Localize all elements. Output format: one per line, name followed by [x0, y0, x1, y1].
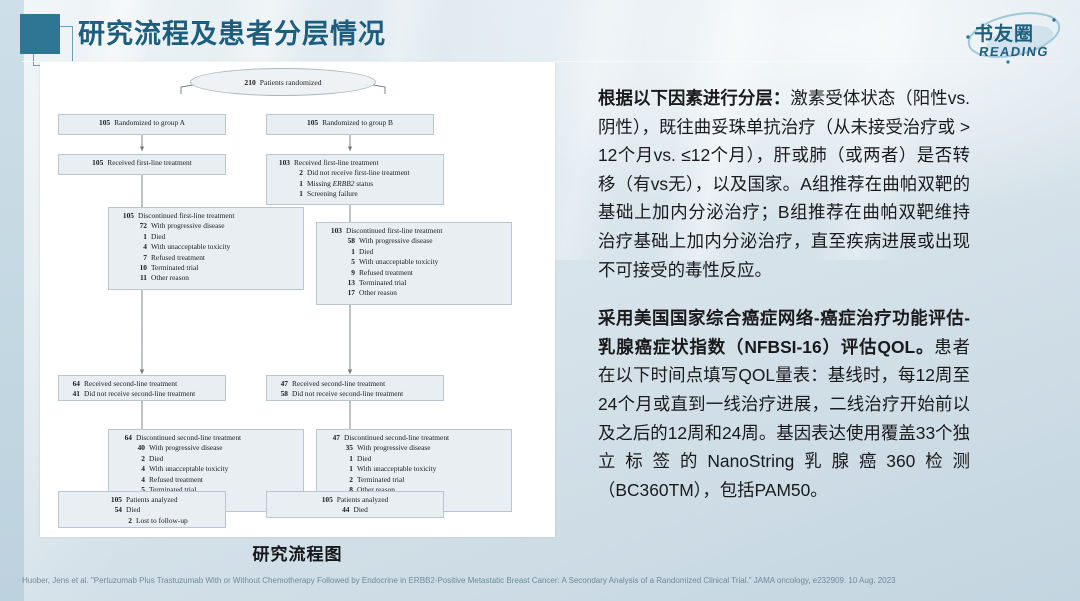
flow-num: 4 — [114, 475, 145, 485]
flow-num: 105 — [102, 495, 122, 505]
flow-num: 5 — [322, 257, 355, 267]
page-title: 研究流程及患者分层情况 — [78, 12, 386, 51]
flow-text: Other reason — [151, 273, 189, 283]
flow-num: 64 — [114, 433, 132, 443]
flow-num: 13 — [322, 278, 355, 288]
flow-text: Discontinued first-line treatment — [138, 211, 234, 221]
paragraph-spacer — [598, 284, 970, 304]
flow-text: With unacceptable toxicity — [359, 257, 438, 267]
flow-text: With progressive disease — [359, 236, 433, 246]
slide-header: 研究流程及患者分层情况 — [0, 0, 1080, 62]
flow-node-group-a-first-line: 105 Received first-line treatment — [58, 154, 226, 175]
flow-num: 1 — [322, 454, 353, 464]
flow-text: Did not receive first-line treatment — [307, 168, 410, 178]
flow-num: 103 — [272, 158, 290, 168]
flow-num: 1 — [272, 189, 303, 199]
flow-num: 103 — [322, 226, 342, 236]
flowchart: 210 Patients randomized 105 Randomized t… — [40, 62, 555, 537]
flow-node-group-b-disc-first: 103Discontinued first-line treatment 58W… — [316, 222, 512, 305]
flow-node-group-b-randomized: 105 Randomized to group B — [266, 114, 434, 135]
flow-text: With unacceptable toxicity — [151, 242, 230, 252]
flow-text: Died — [149, 454, 163, 464]
flow-text: Did not receive second-line treatment — [84, 389, 195, 399]
flow-num: 2 — [102, 516, 132, 526]
slide-root: 研究流程及患者分层情况 书友圈 READING — [0, 0, 1080, 601]
flow-text: Terminated trial — [359, 278, 406, 288]
flow-text: Terminated trial — [357, 475, 404, 485]
flow-num: 58 — [272, 389, 288, 399]
paragraph-1-lead: 根据以下因素进行分层： — [598, 88, 790, 108]
brand-logo: 书友圈 READING — [946, 4, 1074, 66]
flow-text: Missing ERBB2 status — [307, 179, 373, 189]
flow-text: Discontinued second-line treatment — [344, 433, 449, 443]
flow-text: Received first-line treatment — [107, 158, 192, 168]
flow-text: Patients randomized — [260, 78, 322, 87]
flow-num: 2 — [322, 475, 353, 485]
flow-num: 40 — [114, 443, 145, 453]
svg-text:书友圈: 书友圈 — [974, 22, 1034, 45]
flow-text: Did not receive second-line treatment — [292, 389, 403, 399]
flow-num: 64 — [64, 379, 80, 389]
flow-num: 72 — [114, 221, 147, 231]
flow-num: 17 — [322, 288, 355, 298]
flowchart-panel: 210 Patients randomized 105 Randomized t… — [40, 62, 555, 537]
flow-text: Screening failure — [307, 189, 358, 199]
flow-text: With unacceptable toxicity — [149, 464, 228, 474]
flow-node-group-b-first-line: 103Received first-line treatment 2Did no… — [266, 154, 444, 205]
flow-num: 1 — [114, 232, 147, 242]
flow-num: 47 — [322, 433, 340, 443]
flow-num: 2 — [114, 454, 145, 464]
flow-num: 47 — [272, 379, 288, 389]
flow-text: Received second-line treatment — [84, 379, 177, 389]
flow-text: With progressive disease — [151, 221, 225, 231]
background-left-band — [0, 0, 24, 601]
flow-text: Died — [151, 232, 165, 242]
flow-num: 11 — [114, 273, 147, 283]
flow-text: Died — [357, 454, 371, 464]
flow-node-randomized-root: 210 Patients randomized — [190, 68, 376, 96]
flow-num: 44 — [342, 505, 349, 515]
flow-num: 58 — [322, 236, 355, 246]
flow-num: 7 — [114, 253, 147, 263]
paragraph-1-body: 激素受体状态（阳性vs. 阴性），既往曲妥珠单抗治疗（从未接受治疗或 > 12个… — [598, 88, 970, 280]
description-paragraph-1: 根据以下因素进行分层：激素受体状态（阳性vs. 阴性），既往曲妥珠单抗治疗（从未… — [598, 84, 970, 284]
flow-node-group-a-disc-first: 105Discontinued first-line treatment 72W… — [108, 207, 304, 290]
flow-num: 1 — [322, 247, 355, 257]
flow-num: 1 — [322, 464, 353, 474]
flow-text: Randomized to group A — [114, 118, 185, 128]
flow-num: 41 — [64, 389, 80, 399]
paragraph-2-body: 患者在以下时间点填写QOL量表：基线时，每12周至24个月或直到一线治疗进展，二… — [598, 337, 970, 500]
flow-text: Received second-line treatment — [292, 379, 385, 389]
flow-num: 105 — [114, 211, 134, 221]
flow-text: With progressive disease — [149, 443, 223, 453]
figure-caption: 研究流程图 — [40, 540, 555, 565]
flow-text: Randomized to group B — [322, 118, 393, 128]
svg-text:READING: READING — [978, 44, 1050, 59]
flow-num: 9 — [322, 268, 355, 278]
flow-text: With progressive disease — [357, 443, 431, 453]
flow-text: Terminated trial — [151, 263, 198, 273]
flow-text: Patients analyzed — [337, 495, 389, 505]
flow-text: Refused treatment — [151, 253, 205, 263]
flow-num: 105 — [307, 118, 318, 128]
flow-num: 105 — [322, 495, 333, 505]
flow-num: 1 — [272, 179, 303, 189]
flow-text: With unacceptable toxicity — [357, 464, 436, 474]
flow-node-group-b-analyzed: 105Patients analyzed 44Died — [266, 491, 444, 518]
source-citation: Huober, Jens et al. "Pertuzumab Plus Tra… — [22, 576, 1062, 585]
description-paragraph-2: 采用美国国家综合癌症网络-癌症治疗功能评估-乳腺癌症状指数（NFBSI-16）评… — [598, 304, 970, 504]
flow-num: 4 — [114, 464, 145, 474]
flow-text: Refused treatment — [149, 475, 203, 485]
flow-num: 54 — [102, 505, 122, 515]
flow-node-group-a-analyzed: 105Patients analyzed 54Died 2Lost to fol… — [58, 491, 226, 528]
flow-num: 10 — [114, 263, 147, 273]
flow-text: Other reason — [359, 288, 397, 298]
flow-text: Died — [359, 247, 373, 257]
flow-node-group-b-second-line: 47Received second-line treatment 58Did n… — [266, 375, 444, 401]
flow-text: Received first-line treatment — [294, 158, 379, 168]
flow-num: 105 — [99, 118, 110, 128]
flow-text: Died — [354, 505, 368, 515]
flow-num: 210 — [244, 78, 255, 87]
flow-text: Discontinued first-line treatment — [346, 226, 442, 236]
flow-num: 105 — [92, 158, 103, 168]
flow-text: Discontinued second-line treatment — [136, 433, 241, 443]
flow-num: 35 — [322, 443, 353, 453]
paragraph-2-lead: 采用美国国家综合癌症网络-癌症治疗功能评估-乳腺癌症状指数（NFBSI-16）评… — [598, 308, 970, 357]
flow-num: 4 — [114, 242, 147, 252]
flow-text: Patients analyzed — [126, 495, 178, 505]
header-square-icon — [20, 14, 60, 54]
flow-num: 2 — [272, 168, 303, 178]
flow-node-group-a-second-line: 64Received second-line treatment 41Did n… — [58, 375, 226, 401]
flow-text: Died — [126, 505, 140, 515]
flow-node-group-a-randomized: 105 Randomized to group A — [58, 114, 226, 135]
flow-text: Refused treatment — [359, 268, 413, 278]
flow-text: Lost to follow-up — [136, 516, 188, 526]
description-panel: 根据以下因素进行分层：激素受体状态（阳性vs. 阴性），既往曲妥珠单抗治疗（从未… — [598, 84, 970, 504]
